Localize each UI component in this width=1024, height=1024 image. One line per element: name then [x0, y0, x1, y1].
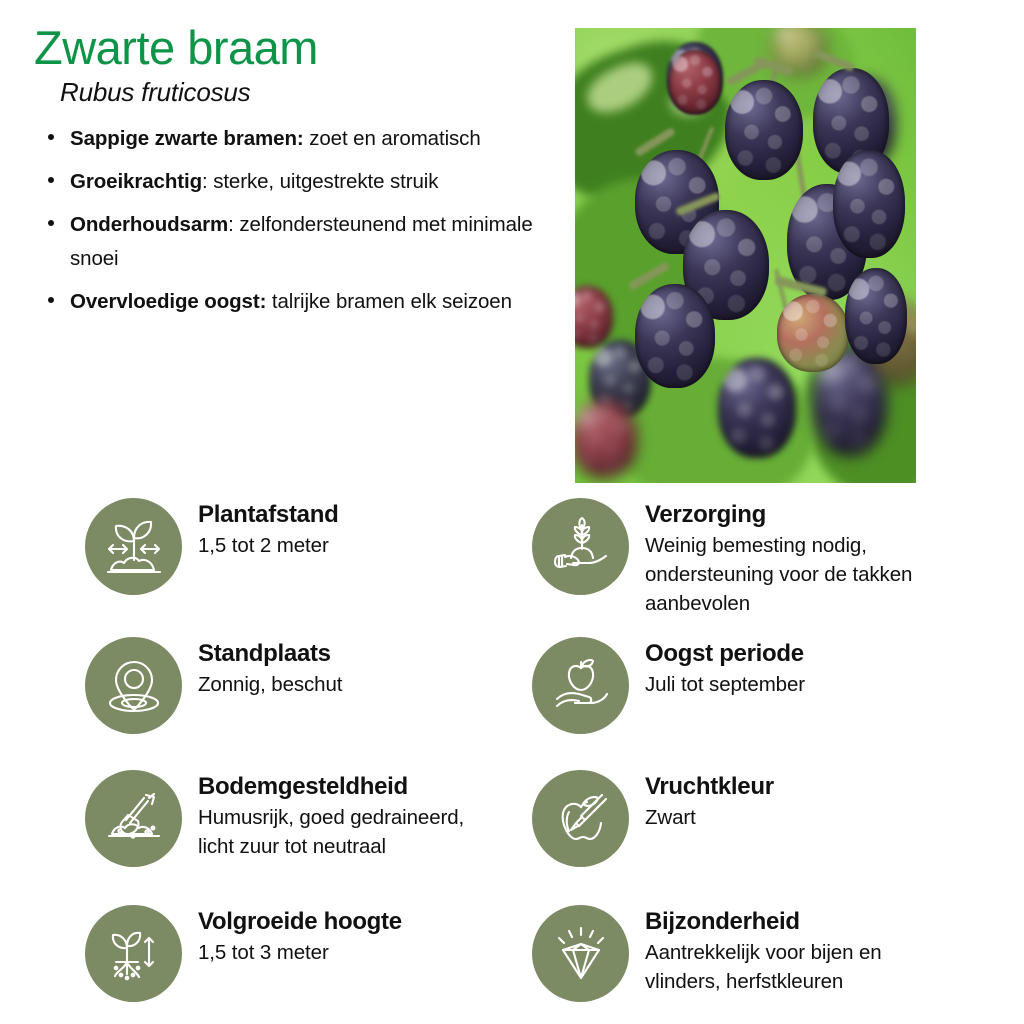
apple-paintbrush-icon	[532, 770, 629, 867]
info-title: Bijzonderheid	[645, 907, 945, 936]
info-desc: Zonnig, beschut	[198, 670, 342, 699]
header-block: Zwarte braam Rubus fruticosus Sappige zw…	[34, 24, 554, 328]
info-text-block: Verzorging Weinig bemesting nodig, onder…	[645, 498, 945, 619]
info-desc: 1,5 tot 2 meter	[198, 531, 338, 560]
diamond-sparkle-icon	[532, 905, 629, 1002]
info-text-block: Vruchtkleur Zwart	[645, 770, 774, 832]
map-pin-icon	[85, 637, 182, 734]
info-item-bodemgesteldheid: Bodemgesteldheid Humusrijk, goed gedrain…	[85, 770, 498, 867]
info-text-block: Plantafstand 1,5 tot 2 meter	[198, 498, 338, 560]
berry	[833, 150, 905, 258]
info-title: Volgroeide hoogte	[198, 907, 402, 936]
feature-lead: Overvloedige oogst:	[70, 290, 266, 313]
berry	[575, 400, 637, 478]
info-title: Verzorging	[645, 500, 945, 529]
feature-rest: talrijke bramen elk seizoen	[266, 290, 512, 313]
page-title: Zwarte braam	[34, 24, 554, 71]
list-item: Overvloedige oogst: talrijke bramen elk …	[34, 285, 534, 318]
feature-rest: : sterke, uitgestrekte struik	[202, 170, 438, 193]
info-title: Vruchtkleur	[645, 772, 774, 801]
apple-in-hand-icon	[532, 637, 629, 734]
berry	[845, 268, 907, 364]
hand-holding-plant-icon	[532, 498, 629, 595]
plant-latin-name: Rubus fruticosus	[60, 77, 554, 108]
info-desc: Aantrekkelijk voor bijen en vlinders, he…	[645, 938, 945, 996]
info-item-volgroeide-hoogte: Volgroeide hoogte 1,5 tot 3 meter	[85, 905, 402, 1002]
info-item-vruchtkleur: Vruchtkleur Zwart	[532, 770, 774, 867]
berry	[718, 358, 796, 458]
info-text-block: Standplaats Zonnig, beschut	[198, 637, 342, 699]
bullet-icon	[48, 177, 54, 183]
plant-height-arrow-icon	[85, 905, 182, 1002]
feature-list: Sappige zwarte bramen: zoet en aromatisc…	[34, 122, 534, 318]
info-text-block: Bodemgesteldheid Humusrijk, goed gedrain…	[198, 770, 498, 861]
feature-lead: Onderhoudsarm	[70, 213, 228, 236]
info-title: Standplaats	[198, 639, 342, 668]
info-item-standplaats: Standplaats Zonnig, beschut	[85, 637, 342, 734]
info-title: Bodemgesteldheid	[198, 772, 498, 801]
shovel-soil-icon	[85, 770, 182, 867]
bullet-icon	[48, 134, 54, 140]
list-item: Groeikrachtig: sterke, uitgestrekte stru…	[34, 165, 534, 198]
info-desc: Zwart	[645, 803, 774, 832]
info-item-oogst-periode: Oogst periode Juli tot september	[532, 637, 805, 734]
info-text-block: Bijzonderheid Aantrekkelijk voor bijen e…	[645, 905, 945, 996]
info-item-plantafstand: Plantafstand 1,5 tot 2 meter	[85, 498, 338, 595]
feature-rest: zoet en aromatisch	[304, 127, 481, 150]
info-title: Oogst periode	[645, 639, 805, 668]
info-item-verzorging: Verzorging Weinig bemesting nodig, onder…	[532, 498, 945, 619]
berry	[777, 294, 849, 372]
feature-lead: Sappige zwarte bramen:	[70, 127, 304, 150]
berry	[725, 80, 803, 180]
info-text-block: Oogst periode Juli tot september	[645, 637, 805, 699]
info-desc: 1,5 tot 3 meter	[198, 938, 402, 967]
list-item: Onderhoudsarm: zelfondersteunend met min…	[34, 208, 534, 274]
info-text-block: Volgroeide hoogte 1,5 tot 3 meter	[198, 905, 402, 967]
berry	[635, 284, 715, 388]
seedling-spacing-icon	[85, 498, 182, 595]
bullet-icon	[48, 220, 54, 226]
info-title: Plantafstand	[198, 500, 338, 529]
bullet-icon	[48, 297, 54, 303]
info-desc: Weinig bemesting nodig, ondersteuning vo…	[645, 531, 945, 618]
list-item: Sappige zwarte bramen: zoet en aromatisc…	[34, 122, 534, 155]
info-item-bijzonderheid: Bijzonderheid Aantrekkelijk voor bijen e…	[532, 905, 945, 1002]
berry	[669, 50, 721, 114]
feature-lead: Groeikrachtig	[70, 170, 202, 193]
blackberry-photo	[575, 28, 916, 483]
info-desc: Humusrijk, goed gedraineerd, licht zuur …	[198, 803, 498, 861]
info-desc: Juli tot september	[645, 670, 805, 699]
